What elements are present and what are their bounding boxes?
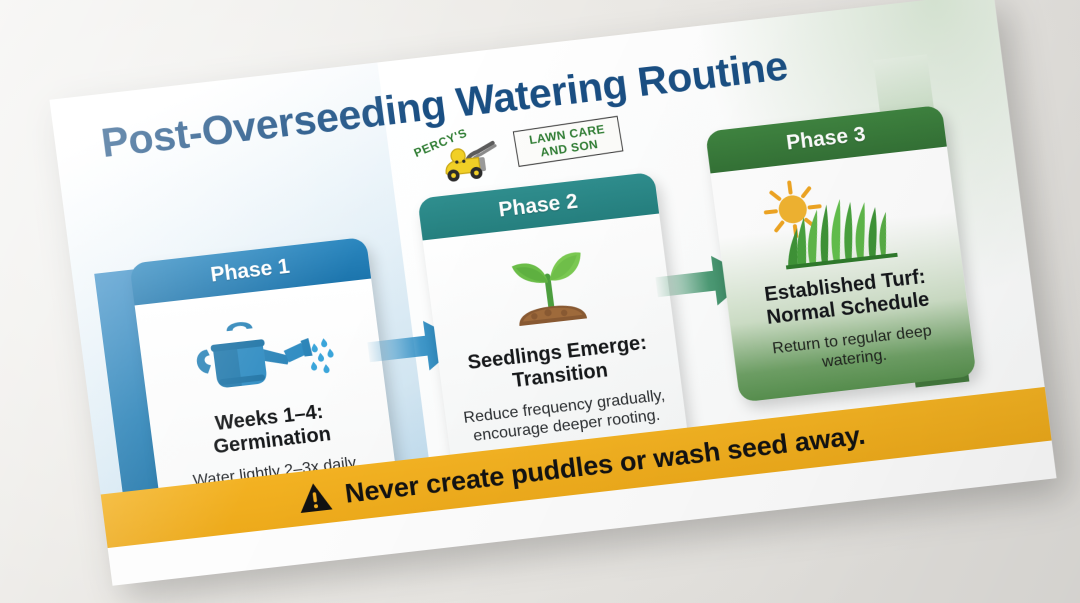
phase-1-icon-wrap: [152, 294, 369, 413]
phase-3-icon-wrap: [728, 162, 945, 281]
poster-canvas: Post-Overseeding Watering Routine PERCY'…: [49, 0, 1056, 586]
warning-triangle-icon: [296, 481, 334, 515]
watering-can-icon: [181, 301, 341, 405]
phase-card-2[interactable]: Phase 2: [417, 172, 689, 469]
sun-and-grass-icon: [747, 164, 926, 278]
phase-2-icon-wrap: [440, 229, 657, 348]
lawn-mower-icon: [436, 135, 519, 183]
phase-2-body: Seedlings Emerge: Transition Reduce freq…: [423, 214, 689, 470]
phase-3-body: Established Turf: Normal Schedule Return…: [710, 147, 976, 403]
seedling-icon: [483, 236, 614, 341]
brand-tagline-box: LAWN CARE AND SON: [513, 116, 624, 167]
phase-card-3[interactable]: Phase 3: [705, 105, 977, 402]
poster-surface: Post-Overseeding Watering Routine PERCY'…: [49, 0, 1056, 586]
infographic-stage: Post-Overseeding Watering Routine PERCY'…: [0, 0, 1080, 603]
